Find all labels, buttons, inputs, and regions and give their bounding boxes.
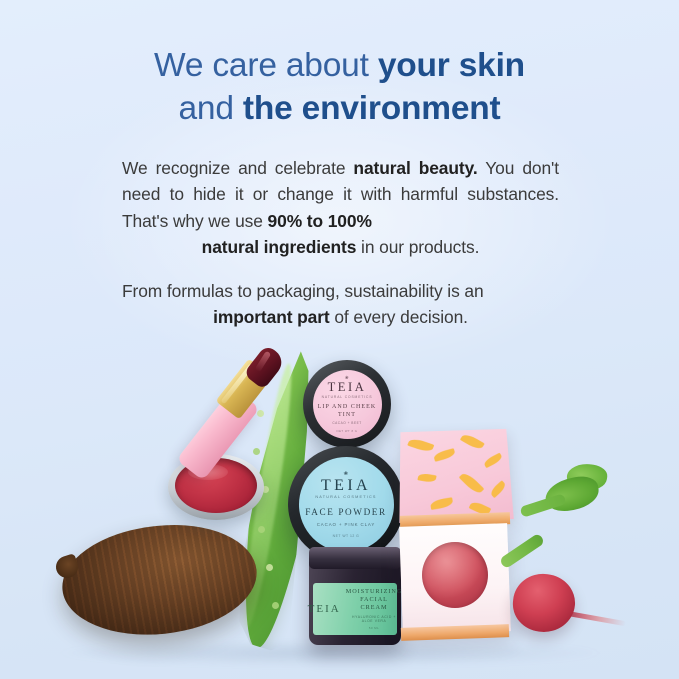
headline-line-2-light: and xyxy=(179,90,243,127)
aloe-thorn xyxy=(258,526,265,533)
lid-leaf-motif xyxy=(460,432,485,451)
tint-brand-name: TEIA xyxy=(328,381,367,394)
aloe-thorn xyxy=(257,410,264,417)
cacao-pod xyxy=(57,516,262,644)
cream-product-name-line2: FACIAL CREAM xyxy=(346,596,403,612)
radish-bulb xyxy=(510,571,578,635)
paragraph-natural-beauty: We recognize and celebrate natural beaut… xyxy=(122,155,559,261)
lip-and-cheek-tint-tin: ❀ TEIA NATURAL COSMETICS LIP AND CHEEK T… xyxy=(303,360,391,448)
p2-emphasis-important-part: important part xyxy=(213,307,329,327)
face-powder-label: ❀ TEIA NATURAL COSMETICS FACE POWDER CAC… xyxy=(299,457,394,552)
lid-leaf-motif xyxy=(459,471,485,496)
teia-logo-mark-icon: ❀ xyxy=(343,471,348,477)
powder-product-name: FACE POWDER xyxy=(305,507,387,517)
cream-label-text-group: MOISTURIZING FACIAL CREAM HYALURONIC ACI… xyxy=(346,588,403,630)
tint-volume: NET WT 8 G xyxy=(337,429,358,433)
tint-tagline: NATURAL COSMETICS xyxy=(322,395,373,399)
tint-product-name-line1: LIP AND CHEEK xyxy=(318,404,377,412)
p1-emphasis-ingredients: natural ingredients xyxy=(202,237,357,257)
tint-product-name-line2: TINT xyxy=(338,412,356,420)
p1-text-1: We recognize and celebrate xyxy=(122,158,353,178)
facial-cream-jar-lid xyxy=(309,547,401,569)
cream-volume: 50 ML xyxy=(369,626,379,630)
product-scene: ❀ TEIA NATURAL COSMETICS LIP AND CHEEK T… xyxy=(0,340,679,679)
blush-pan xyxy=(422,542,488,608)
lid-leaf-motif xyxy=(433,448,456,462)
tint-ingredients: CACAO + BEET xyxy=(332,421,361,425)
headline-line-2-bold: the environment xyxy=(243,90,501,127)
lid-leaf-motif xyxy=(483,453,504,468)
lid-leaf-motif xyxy=(407,437,434,454)
powder-brand-name: TEIA xyxy=(321,477,371,494)
headline-line-1-light: We care about xyxy=(154,47,378,84)
teia-logo-mark-icon: ❀ xyxy=(345,375,349,381)
p1-emphasis-natural-beauty: natural beauty. xyxy=(353,158,477,178)
aloe-thorn xyxy=(253,448,260,455)
powder-tagline: NATURAL COSMETICS xyxy=(315,495,376,499)
powder-ingredients: CACAO + PINK CLAY xyxy=(317,522,376,527)
promo-banner: We care about your skin and the environm… xyxy=(0,0,679,679)
face-powder-jar: ❀ TEIA NATURAL COSMETICS FACE POWDER CAC… xyxy=(288,446,404,562)
cream-product-name-line1: MOISTURIZING xyxy=(346,588,403,596)
cream-brand-name: TEIA xyxy=(308,603,341,615)
cream-ingredients: HYALURONIC ACID + ALOE VERA xyxy=(346,615,403,623)
powder-volume: NET WT 12 G xyxy=(333,534,360,538)
lid-leaf-motif xyxy=(417,473,436,484)
aloe-thorn xyxy=(266,564,273,571)
headline-line-1-bold: your skin xyxy=(378,47,525,84)
p1-emphasis-percentage: 90% to 100% xyxy=(268,211,372,231)
lip-and-cheek-tint-label: ❀ TEIA NATURAL COSMETICS LIP AND CHEEK T… xyxy=(313,370,382,439)
aloe-thorn xyxy=(272,602,279,609)
facial-cream-label: TEIA MOISTURIZING FACIAL CREAM HYALURONI… xyxy=(313,583,397,635)
radish-root-tail xyxy=(566,611,626,626)
p1-text-3: in our products. xyxy=(356,237,479,257)
p2-text-2: of every decision. xyxy=(330,307,468,327)
paragraph-sustainability: From formulas to packaging, sustainabili… xyxy=(122,278,559,331)
lid-leaf-motif xyxy=(489,480,508,498)
p2-text-1: From formulas to packaging, sustainabili… xyxy=(122,281,484,301)
blush-compact-lid xyxy=(399,429,513,523)
radish-stem xyxy=(519,493,566,518)
page-title: We care about your skin and the environm… xyxy=(0,44,679,130)
blush-compact-base-edge xyxy=(401,624,509,641)
lid-leaf-motif xyxy=(430,497,454,510)
